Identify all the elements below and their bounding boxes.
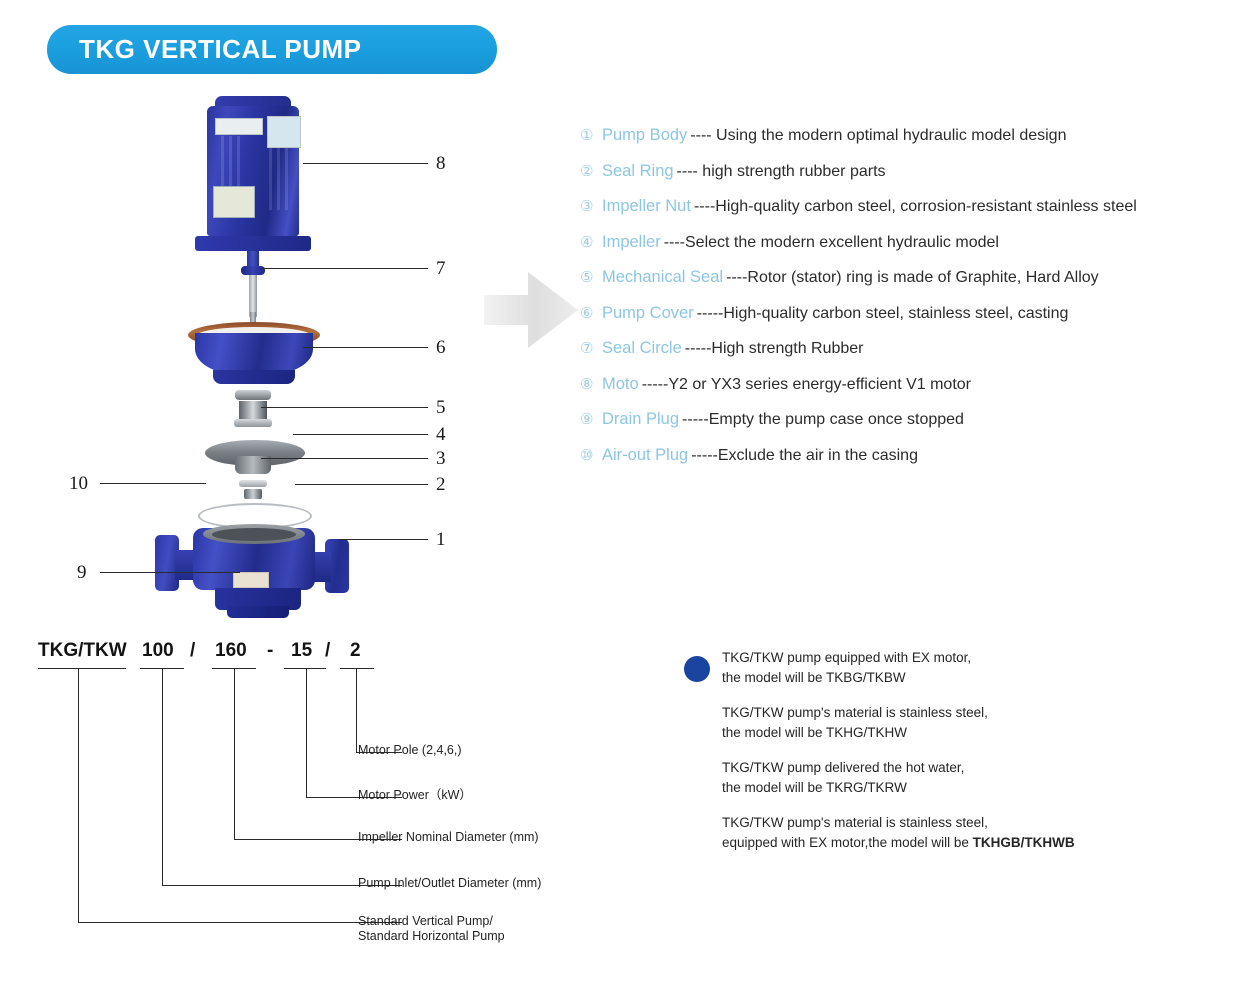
legend-description: -----Y2 or YX3 series energy-efficient V… xyxy=(642,376,971,394)
model-underline-series xyxy=(38,668,126,669)
note-text: equipped with EX motor,the model will be xyxy=(722,835,973,850)
legend-part-name: Impeller xyxy=(602,233,661,252)
callout-line-8 xyxy=(303,163,428,164)
legend-description: ---- Using the modern optimal hydraulic … xyxy=(690,127,1066,145)
parts-legend: ① Pump Body ---- Using the modern optima… xyxy=(580,126,1230,481)
model-label-impeller-dia: Impeller Nominal Diameter (mm) xyxy=(358,830,539,845)
leader-vert-impeller xyxy=(234,668,235,839)
legend-item: ① Pump Body ---- Using the modern optima… xyxy=(580,126,1230,145)
callout-number-5: 5 xyxy=(436,398,446,417)
legend-description: ----High-quality carbon steel, corrosion… xyxy=(694,198,1137,216)
cover-body xyxy=(195,333,313,375)
bullet-dot-icon xyxy=(684,656,710,682)
model-segment-inlet: 100 xyxy=(142,640,174,662)
leader-vert-inlet xyxy=(162,668,163,885)
seal-washer-bottom xyxy=(234,419,272,427)
callout-number-10: 10 xyxy=(69,474,88,493)
right-arrow-icon xyxy=(484,262,580,358)
callout-line-1 xyxy=(339,539,428,540)
callout-number-1: 1 xyxy=(436,530,446,549)
model-segment-impeller: 160 xyxy=(215,640,247,662)
callout-line-3 xyxy=(261,458,428,459)
legend-description: -----High-quality carbon steel, stainles… xyxy=(697,305,1069,323)
casing-tag xyxy=(233,572,269,588)
legend-part-name: Drain Plug xyxy=(602,410,679,429)
callout-number-9: 9 xyxy=(77,563,87,582)
legend-part-name: Impeller Nut xyxy=(602,197,691,216)
nut-washer xyxy=(239,480,267,487)
note-line: TKG/TKW pump delivered the hot water, xyxy=(722,760,1075,775)
model-underline-power xyxy=(284,668,326,669)
model-underline-pole xyxy=(340,668,374,669)
note-line: TKG/TKW pump equipped with EX motor, xyxy=(722,650,1075,665)
model-segment-series: TKG/TKW xyxy=(38,640,127,662)
legend-number: ⑤ xyxy=(580,270,602,285)
motor-nameplate xyxy=(215,118,263,135)
motor-flange-base xyxy=(195,236,311,251)
casing-opening xyxy=(212,528,296,541)
legend-description: ----Select the modern excellent hydrauli… xyxy=(664,234,999,252)
callout-number-7: 7 xyxy=(436,259,446,278)
legend-item: ② Seal Ring ---- high strength rubber pa… xyxy=(580,162,1230,181)
nut-body xyxy=(244,489,262,499)
note-line: TKG/TKW pump's material is stainless ste… xyxy=(722,815,1075,830)
note-line: the model will be TKRG/TKRW xyxy=(722,780,1075,795)
seal-washer-top xyxy=(235,390,271,400)
model-label-standard-horiz: Standard Horizontal Pump xyxy=(358,929,505,944)
legend-number: ③ xyxy=(580,199,602,214)
callout-number-2: 2 xyxy=(436,475,446,494)
legend-part-name: Seal Ring xyxy=(602,162,674,181)
legend-number: ① xyxy=(580,128,602,143)
leader-horiz-series xyxy=(78,922,402,923)
note-model-code: TKHGB/TKHWB xyxy=(973,835,1075,850)
leader-vert-series xyxy=(78,668,79,922)
legend-number: ④ xyxy=(580,235,602,250)
callout-line-5 xyxy=(261,407,428,408)
legend-item: ⑥ Pump Cover -----High-quality carbon st… xyxy=(580,304,1230,323)
note-line: TKG/TKW pump's material is stainless ste… xyxy=(722,705,1075,720)
model-label-inlet-dia: Pump Inlet/Outlet Diameter (mm) xyxy=(358,876,541,891)
callout-line-6 xyxy=(303,347,428,348)
exploded-pump-diagram: 8 7 6 5 4 3 2 1 10 9 xyxy=(55,90,475,600)
callout-line-7 xyxy=(261,268,428,269)
callout-line-10 xyxy=(100,483,206,484)
model-separator-slash2: / xyxy=(325,640,330,662)
legend-item: ⑧ Moto -----Y2 or YX3 series energy-effi… xyxy=(580,375,1230,394)
leader-vert-pole xyxy=(356,668,357,752)
legend-part-name: Pump Body xyxy=(602,126,687,145)
legend-item: ③ Impeller Nut ----High-quality carbon s… xyxy=(580,197,1230,216)
model-label-motor-power: Motor Power（kW） xyxy=(358,788,472,803)
legend-description: -----High strength Rubber xyxy=(685,340,864,358)
model-label-motor-pole: Motor Pole (2,4,6,) xyxy=(358,743,462,758)
motor-label xyxy=(267,116,301,148)
drain-plug-foot xyxy=(227,606,289,618)
legend-part-name: Seal Circle xyxy=(602,339,682,358)
legend-description: -----Exclude the air in the casing xyxy=(691,447,918,465)
legend-number: ② xyxy=(580,164,602,179)
pump-shaft xyxy=(249,275,257,317)
leader-vert-power xyxy=(306,668,307,797)
motor-terminal-box xyxy=(213,186,255,218)
legend-number: ⑨ xyxy=(580,412,602,427)
seal-spring-body xyxy=(239,401,267,419)
legend-number: ⑥ xyxy=(580,306,602,321)
legend-item: ⑦ Seal Circle -----High strength Rubber xyxy=(580,339,1230,358)
model-segment-pole: 2 xyxy=(350,640,361,662)
legend-part-name: Air-out Plug xyxy=(602,446,688,465)
model-segment-power: 15 xyxy=(291,640,312,662)
legend-item: ④ Impeller ----Select the modern excelle… xyxy=(580,233,1230,252)
note-line: the model will be TKHG/TKHW xyxy=(722,725,1075,740)
legend-description: ----Rotor (stator) ring is made of Graph… xyxy=(726,269,1099,287)
note-line-last: equipped with EX motor,the model will be… xyxy=(722,835,1075,850)
callout-line-2 xyxy=(295,484,428,485)
callout-number-3: 3 xyxy=(436,449,446,468)
legend-number: ⑩ xyxy=(580,448,602,463)
legend-item: ⑩ Air-out Plug -----Exclude the air in t… xyxy=(580,446,1230,465)
callout-line-4 xyxy=(293,434,428,435)
legend-item: ⑤ Mechanical Seal ----Rotor (stator) rin… xyxy=(580,268,1230,287)
model-code-breakdown: TKG/TKW 100 / 160 - 15 / 2 Motor Pole (2… xyxy=(30,640,630,960)
callout-line-9 xyxy=(100,572,240,573)
model-label-standard-vert: Standard Vertical Pump/ xyxy=(358,914,493,929)
callout-number-4: 4 xyxy=(436,425,446,444)
cover-foot xyxy=(213,370,295,384)
legend-number: ⑧ xyxy=(580,377,602,392)
legend-part-name: Pump Cover xyxy=(602,304,694,323)
legend-part-name: Mechanical Seal xyxy=(602,268,723,287)
legend-part-name: Moto xyxy=(602,375,639,394)
legend-number: ⑦ xyxy=(580,341,602,356)
callout-number-6: 6 xyxy=(436,338,446,357)
legend-description: -----Empty the pump case once stopped xyxy=(682,411,964,429)
legend-item: ⑨ Drain Plug -----Empty the pump case on… xyxy=(580,410,1230,429)
callout-number-8: 8 xyxy=(436,154,446,173)
legend-description: ---- high strength rubber parts xyxy=(677,163,886,181)
title-banner: TKG VERTICAL PUMP xyxy=(47,25,497,74)
page-title: TKG VERTICAL PUMP xyxy=(79,34,361,65)
model-separator-dash: - xyxy=(267,640,273,662)
note-line: the model will be TKBG/TKBW xyxy=(722,670,1075,685)
model-separator-slash1: / xyxy=(190,640,195,662)
